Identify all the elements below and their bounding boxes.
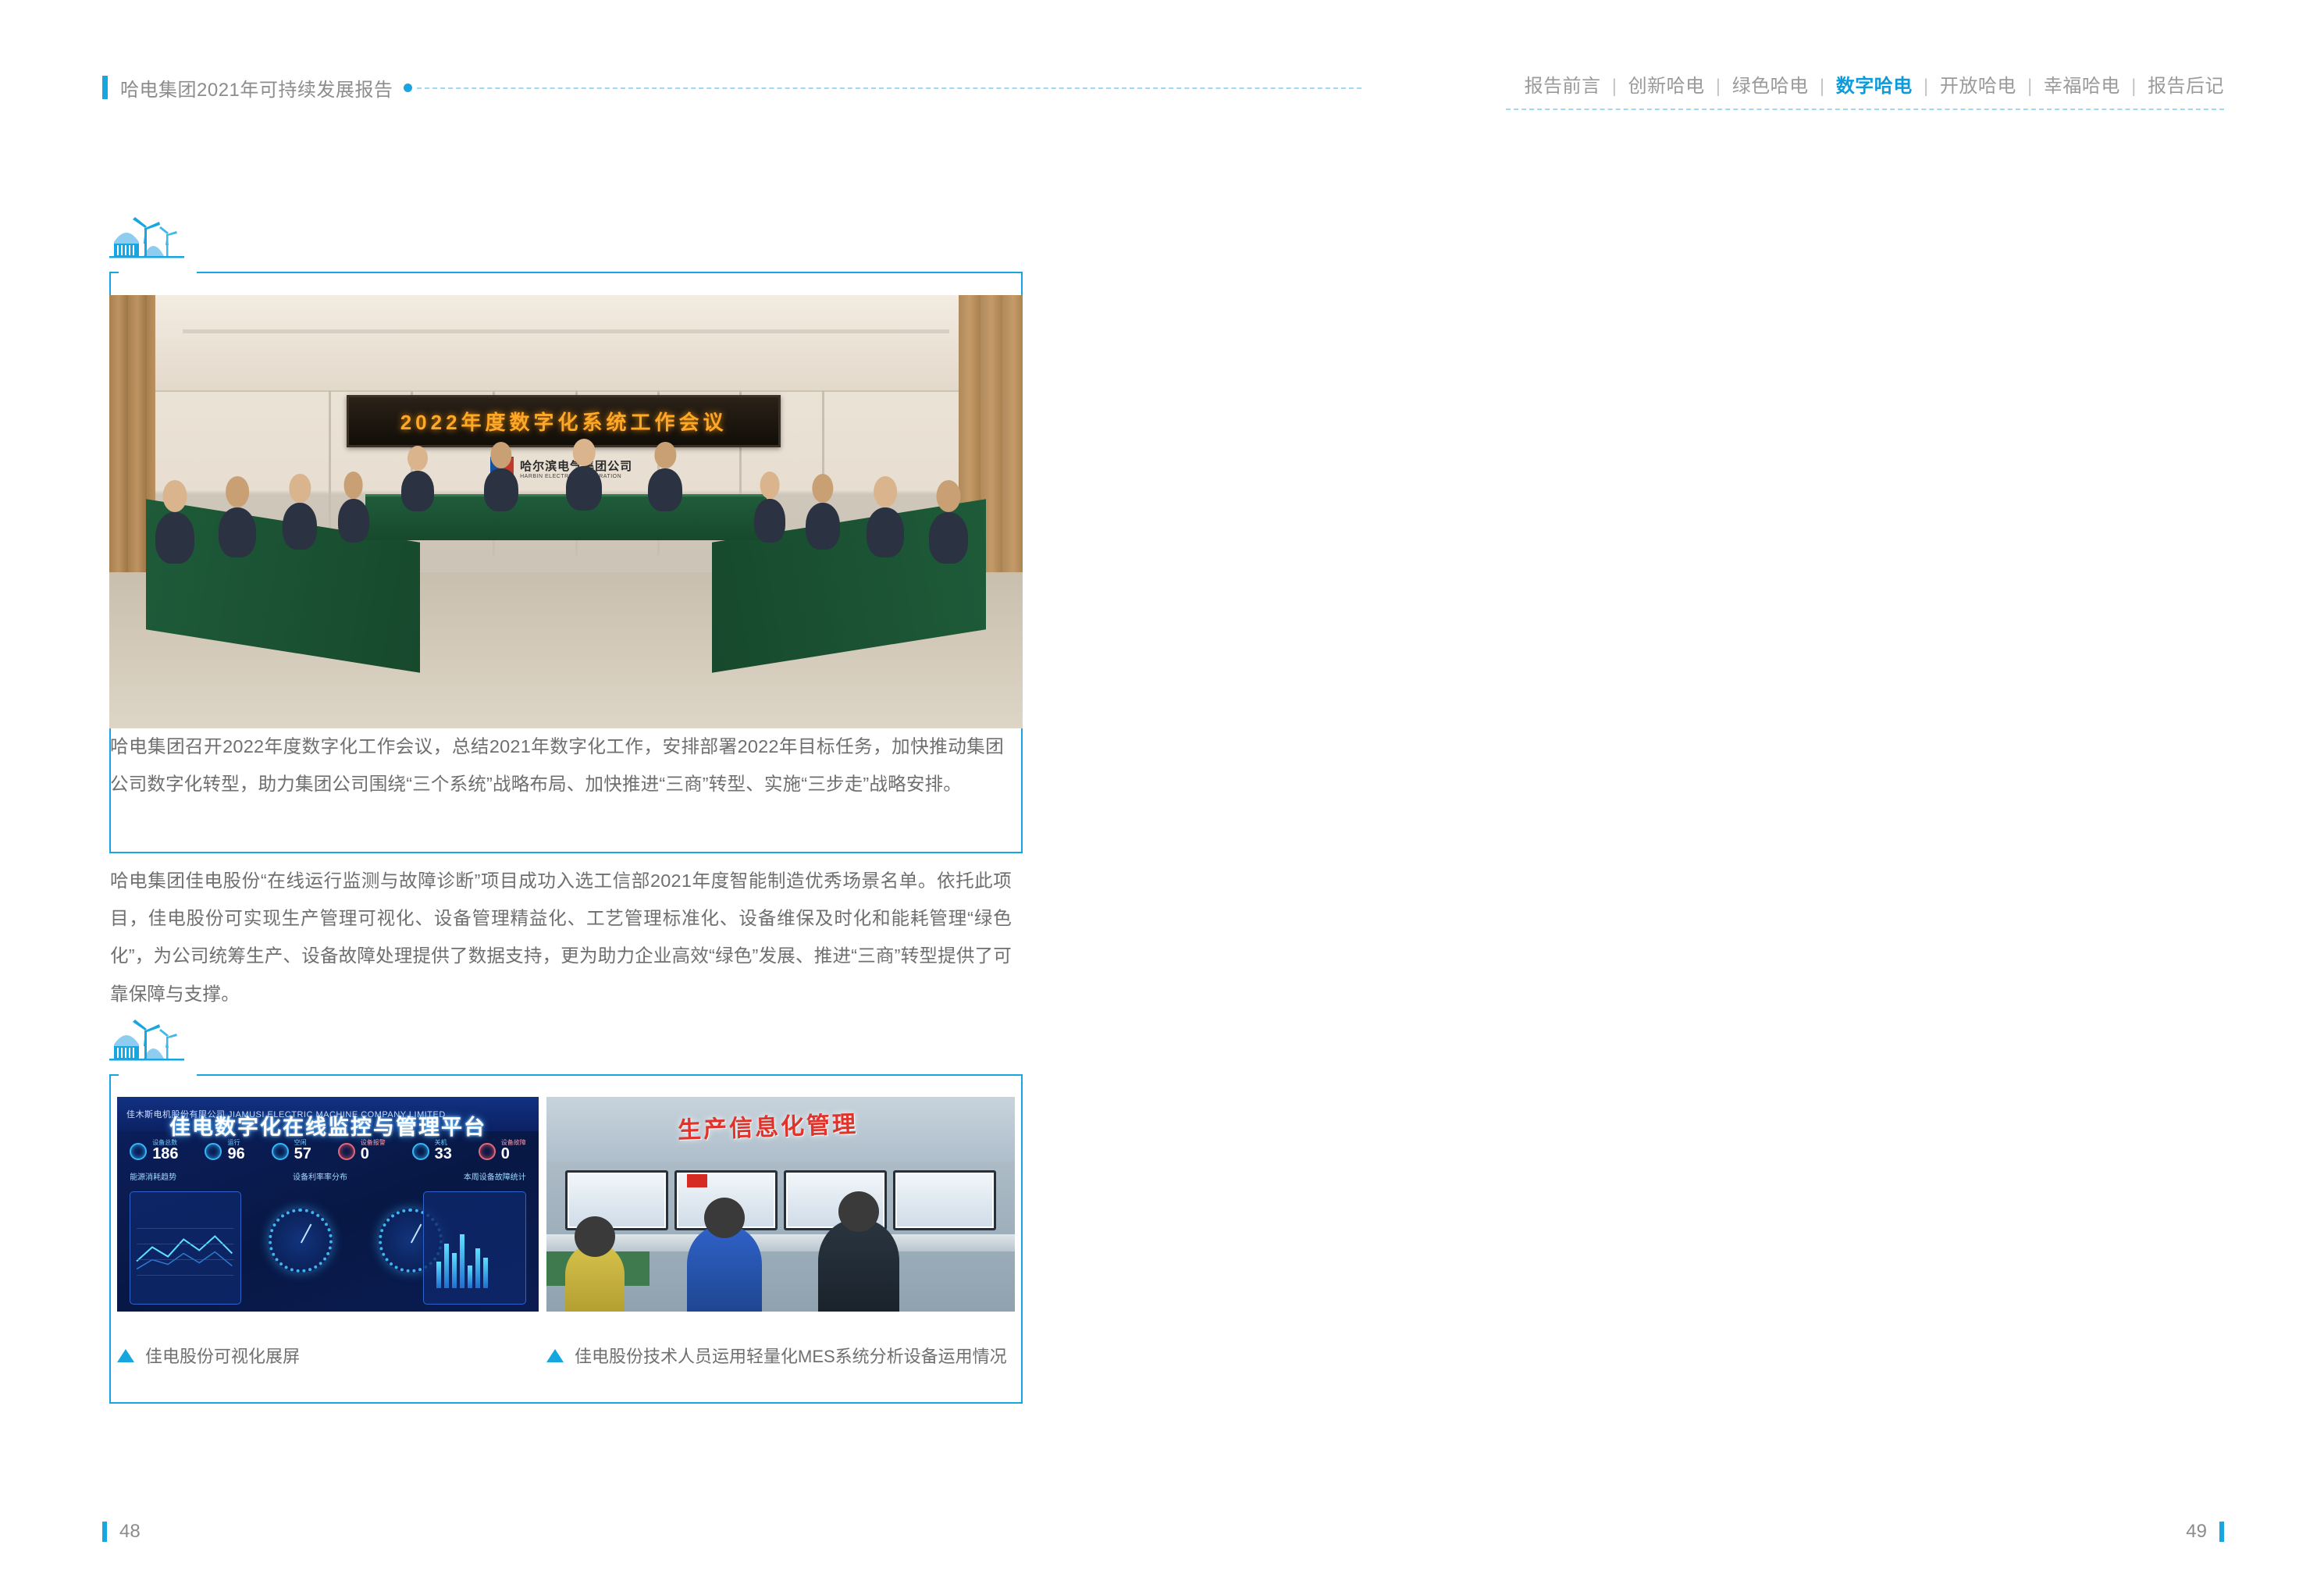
left-page: 哈电集团2021年可持续发展报告	[0, 0, 1162, 1577]
page-spread: 哈电集团2021年可持续发展报告	[0, 0, 2324, 1577]
nav-item-happy[interactable]: 幸福哈电	[2044, 76, 2120, 97]
nav-separator: |	[2027, 76, 2033, 97]
frame-notch	[119, 265, 197, 279]
dashboard-panel-label: 本周设备故障统计	[464, 1170, 526, 1182]
conference-photo: 2022年度数字化系统工作会议 哈尔滨电气集团公司 HARBIN ELECTRI…	[109, 295, 1023, 728]
page-number: 49	[2186, 1521, 2207, 1543]
conference-banner: 2022年度数字化系统工作会议	[347, 395, 781, 447]
utilization-gauge	[269, 1209, 333, 1273]
nav-separator: |	[1612, 76, 1618, 97]
mes-photo: 生产信息化管理	[546, 1097, 1015, 1312]
report-title: 哈电集团2021年可持续发展报告	[120, 74, 393, 101]
running-icon	[205, 1143, 222, 1160]
nav-separator: |	[1820, 76, 1825, 97]
header-accent-bar	[102, 76, 108, 99]
nav-item-digital[interactable]: 数字哈电	[1836, 76, 1913, 97]
dashboard-metric: 运行 96	[205, 1140, 244, 1162]
mes-photo-caption: 佳电股份技术人员运用轻量化MES系统分析设备运用情况	[546, 1343, 1007, 1368]
mes-overlay-text: 生产信息化管理	[677, 1105, 858, 1145]
idle-icon	[272, 1143, 289, 1160]
fault-icon	[479, 1143, 496, 1160]
dashboard-photo-caption: 佳电股份可视化展屏	[117, 1343, 300, 1368]
nav-item-open[interactable]: 开放哈电	[1940, 76, 2016, 97]
conference-banner-text: 2022年度数字化系统工作会议	[400, 407, 728, 436]
dashboard-metric: 设备故障 0	[479, 1140, 526, 1162]
alarm-icon	[338, 1143, 355, 1160]
dashboard-panel-label: 设备利率率分布	[293, 1170, 347, 1182]
dashboard-metric: 空闲 57	[272, 1140, 311, 1162]
conference-photo-caption: 哈电集团召开2022年度数字化工作会议，总结2021年数字化工作，安排部署202…	[110, 728, 1004, 803]
dashboard-metrics: 设备总数 186 运行 96 空闲	[130, 1140, 526, 1162]
line-chart	[130, 1192, 240, 1304]
frame-notch	[119, 1068, 197, 1082]
footer-right: 49	[2186, 1521, 2224, 1543]
footer-accent-bar	[2219, 1522, 2224, 1542]
wind-turbine-dam-icon	[109, 1015, 184, 1073]
nav-item-green[interactable]: 绿色哈电	[1732, 76, 1809, 97]
nav-separator: |	[1924, 76, 1929, 97]
dashboard-metric: 设备总数 186	[130, 1140, 178, 1162]
device-total-icon	[130, 1143, 147, 1160]
header-dot-icon	[404, 84, 412, 92]
dashboard-photo: 佳木斯电机股份有限公司 JIAMUSI ELECTRIC MACHINE COM…	[117, 1097, 539, 1312]
nav-item-innovation[interactable]: 创新哈电	[1628, 76, 1705, 97]
footer-left: 48	[102, 1521, 141, 1543]
header-dashed-rule	[1506, 109, 2224, 110]
nav-item-preface[interactable]: 报告前言	[1525, 76, 1601, 97]
nav-separator: |	[2131, 76, 2137, 97]
right-page: 报告前言 | 创新哈电 | 绿色哈电 | 数字哈电 | 开放哈电 | 幸福哈电 …	[1162, 0, 2324, 1577]
dashboard-metric: 设备报警 0	[338, 1140, 386, 1162]
mes-screen	[893, 1170, 996, 1230]
dashboard-panel-label: 能源消耗趋势	[130, 1170, 176, 1182]
dashboard-bar-panel	[423, 1191, 526, 1305]
section-nav: 报告前言 | 创新哈电 | 绿色哈电 | 数字哈电 | 开放哈电 | 幸福哈电 …	[1506, 70, 2224, 98]
shutdown-icon	[412, 1143, 429, 1160]
body-paragraph: 哈电集团佳电股份“在线运行监测与故障诊断”项目成功入选工信部2021年度智能制造…	[110, 862, 1012, 1013]
nav-item-postscript[interactable]: 报告后记	[2148, 76, 2224, 97]
dashboard-title: 佳电数字化在线监控与管理平台	[169, 1110, 486, 1141]
triangle-bullet-icon	[117, 1349, 134, 1362]
nav-separator: |	[1716, 76, 1721, 97]
dashboard-chart-panel	[130, 1191, 240, 1305]
footer-accent-bar	[102, 1522, 107, 1542]
triangle-bullet-icon	[546, 1349, 564, 1362]
flag-icon	[687, 1174, 707, 1187]
wind-turbine-dam-icon	[109, 212, 184, 270]
header-right: 报告前言 | 创新哈电 | 绿色哈电 | 数字哈电 | 开放哈电 | 幸福哈电 …	[1506, 70, 2224, 110]
dashboard-metric: 关机 33	[412, 1140, 452, 1162]
page-number: 48	[119, 1521, 141, 1543]
